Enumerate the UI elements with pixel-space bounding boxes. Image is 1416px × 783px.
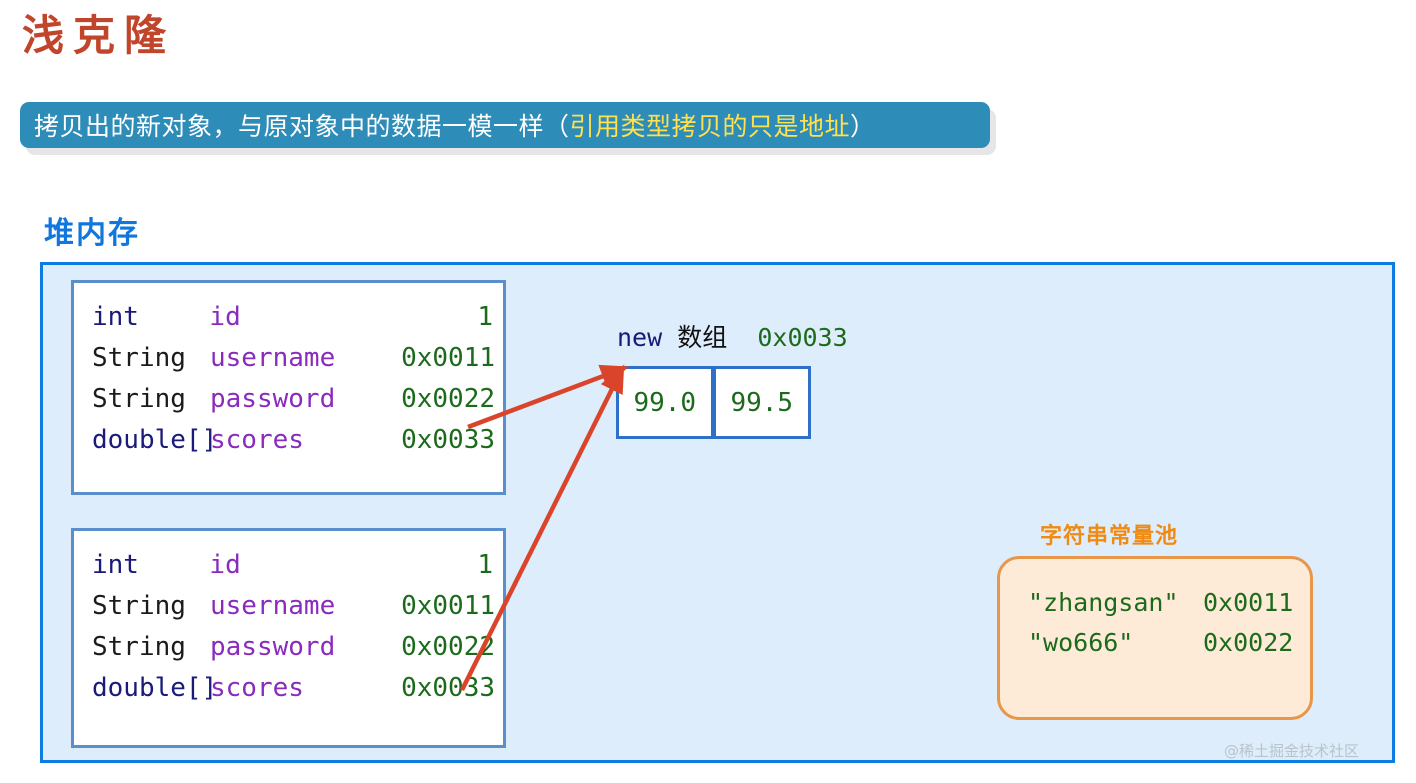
string-constant-pool-box: "zhangsan"0x0011 "wo666"0x0022 (997, 556, 1313, 720)
cloned-object-box: int id 1 String username 0x0011 String p… (71, 528, 506, 748)
field-type: String (92, 338, 210, 379)
field-name: id (209, 545, 393, 586)
array-caption-space (662, 323, 677, 352)
field-value: 0x0022 (395, 379, 495, 420)
pool-entry-address: 0x0011 (1203, 583, 1293, 623)
array-caption-space2 (727, 323, 757, 352)
field-name: username (210, 586, 395, 627)
field-name: scores (210, 420, 395, 461)
banner-text-main: 拷贝出的新对象，与原对象中的数据一模一样（ (34, 112, 570, 141)
field-type: double[] (92, 420, 210, 461)
object-field-row: double[] scores 0x0033 (92, 420, 503, 461)
array-caption: new 数组 0x0033 (617, 318, 848, 354)
field-type: String (92, 627, 210, 668)
original-object-box: int id 1 String username 0x0011 String p… (71, 280, 506, 495)
string-pool-label: 字符串常量池 (1040, 518, 1178, 550)
field-type: double[] (92, 668, 210, 709)
field-name: password (210, 627, 395, 668)
field-name: username (210, 338, 395, 379)
field-value: 0x0022 (395, 627, 495, 668)
field-value: 1 (394, 545, 504, 586)
field-name: scores (210, 668, 395, 709)
field-type: String (92, 586, 210, 627)
array-caption-label: 数组 (677, 323, 727, 352)
field-name: password (210, 379, 395, 420)
array-caption-keyword: new (617, 323, 662, 352)
scores-array-box: 99.0 99.5 (616, 366, 811, 439)
banner-text-highlight: 引用类型拷贝的只是地址 (570, 112, 851, 141)
pool-entry-address: 0x0022 (1203, 623, 1293, 663)
pool-entry-row: "wo666"0x0022 (1028, 623, 1310, 663)
heap-memory-label: 堆内存 (44, 208, 140, 252)
pool-entry-literal: "zhangsan" (1028, 583, 1203, 623)
array-cell: 99.5 (714, 366, 812, 439)
object-field-row: String username 0x0011 (92, 338, 503, 379)
watermark: @稀土掘金技术社区 (1224, 740, 1359, 761)
summary-banner-text: 拷贝出的新对象，与原对象中的数据一模一样（引用类型拷贝的只是地址） (34, 107, 876, 143)
summary-banner: 拷贝出的新对象，与原对象中的数据一模一样（引用类型拷贝的只是地址） (20, 102, 990, 148)
object-field-row: int id 1 (92, 297, 503, 338)
field-name: id (209, 297, 393, 338)
field-value: 0x0011 (395, 586, 495, 627)
object-field-row: int id 1 (92, 545, 503, 586)
array-cell: 99.0 (616, 366, 714, 439)
object-field-row: String username 0x0011 (92, 586, 503, 627)
field-type: int (92, 297, 209, 338)
object-field-row: String password 0x0022 (92, 379, 503, 420)
field-value: 0x0033 (395, 420, 495, 461)
field-value: 0x0033 (395, 668, 495, 709)
field-type: int (92, 545, 209, 586)
pool-entry-literal: "wo666" (1028, 623, 1203, 663)
field-type: String (92, 379, 210, 420)
object-field-row: String password 0x0022 (92, 627, 503, 668)
array-caption-address: 0x0033 (757, 323, 847, 352)
banner-text-tail: ） (850, 112, 876, 141)
page-title: 浅克隆 (22, 6, 175, 66)
field-value: 1 (394, 297, 504, 338)
object-field-row: double[] scores 0x0033 (92, 668, 503, 709)
pool-entry-row: "zhangsan"0x0011 (1028, 583, 1310, 623)
field-value: 0x0011 (395, 338, 495, 379)
